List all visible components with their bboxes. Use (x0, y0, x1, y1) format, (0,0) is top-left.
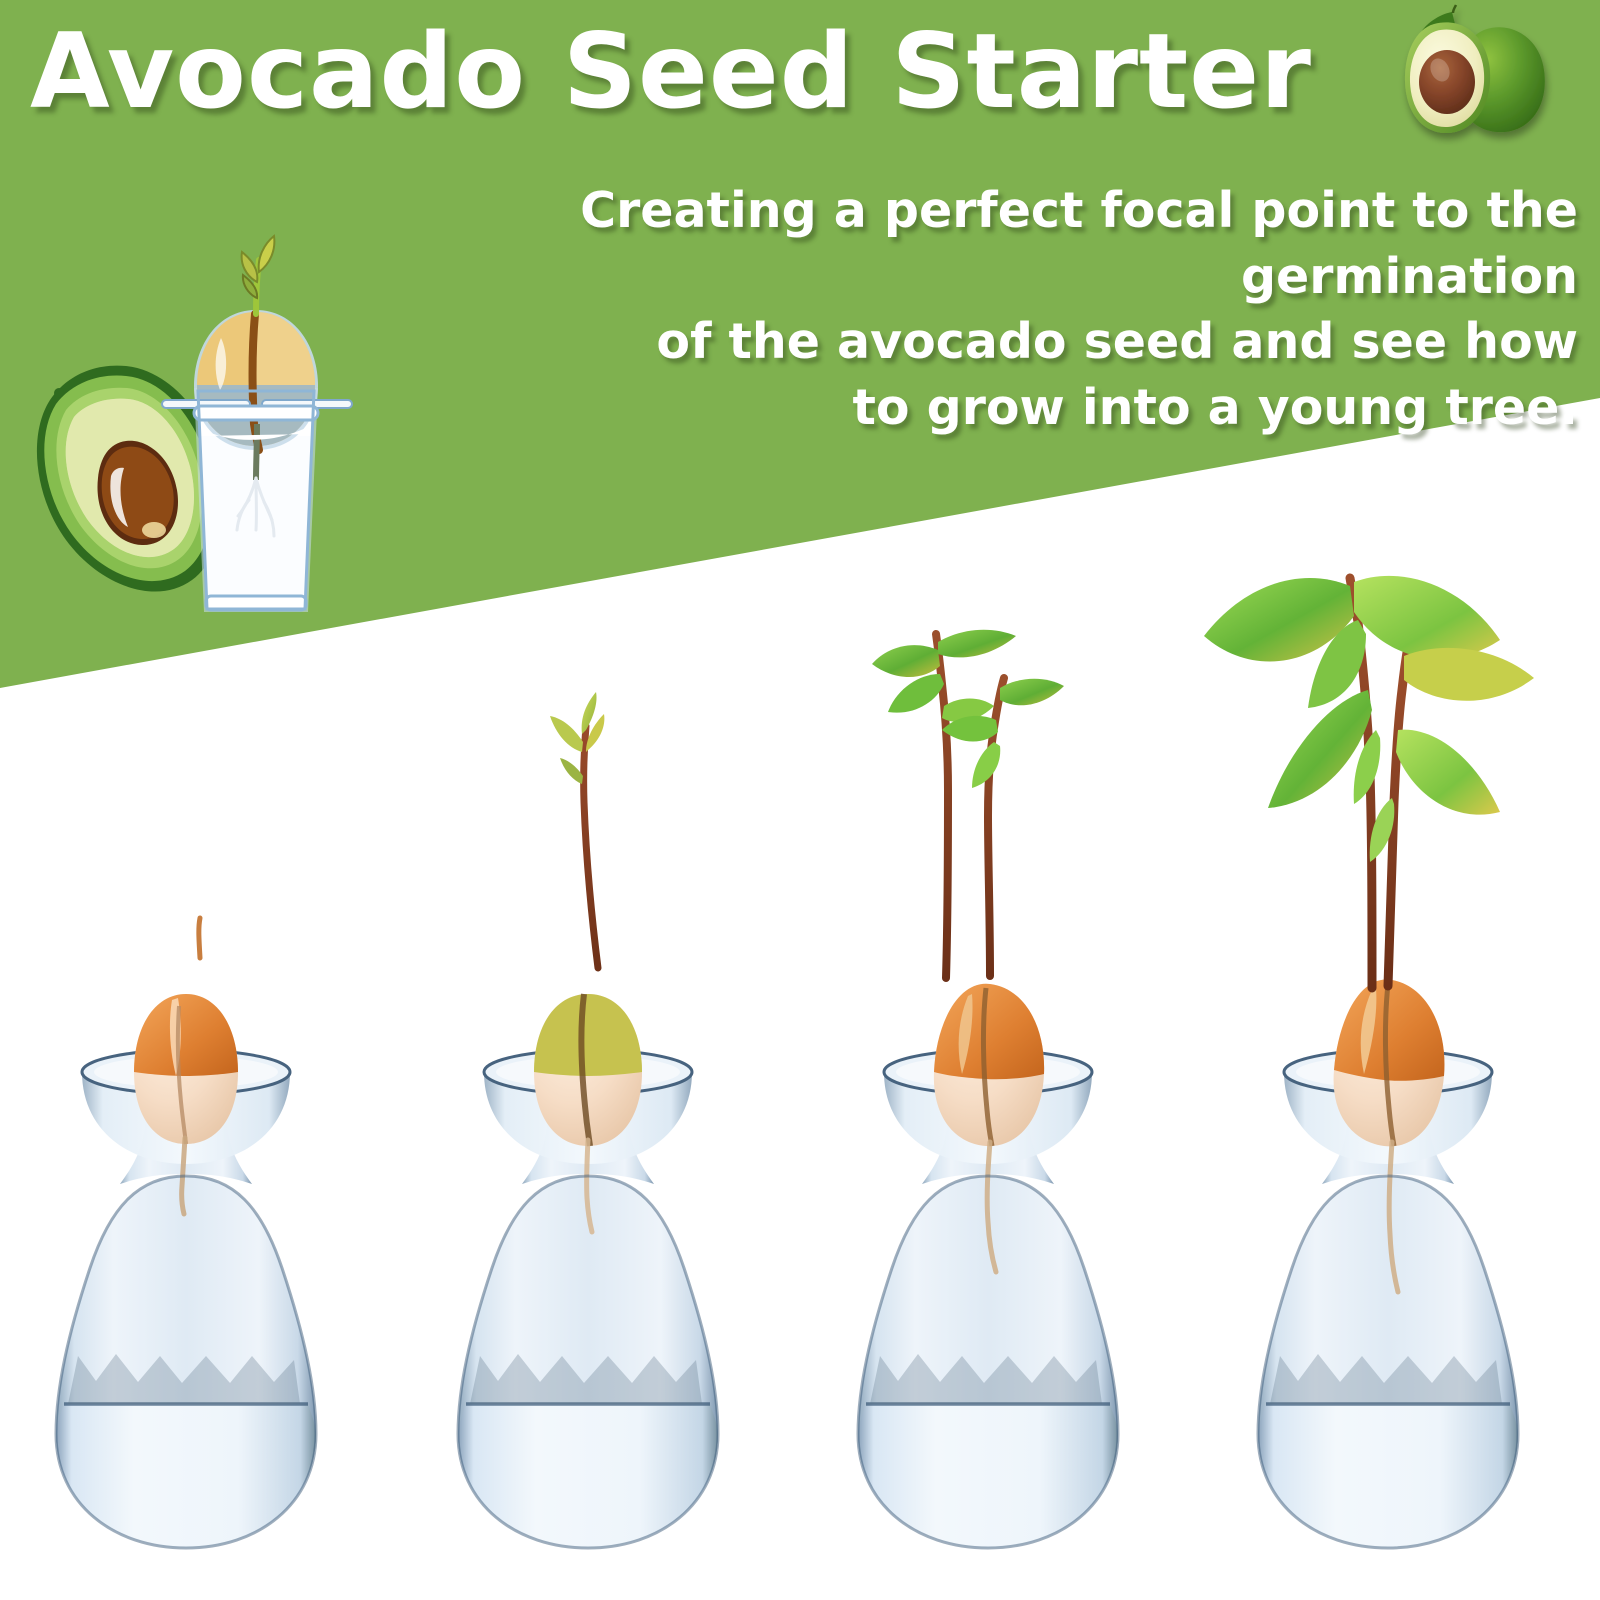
subtitle-line-2: of the avocado seed and see how (278, 309, 1578, 375)
avocado-pit (1419, 50, 1475, 114)
page-subtitle: Creating a perfect focal point to the ge… (278, 178, 1578, 441)
sprout-leaf-right (259, 236, 275, 272)
sprout-icon (242, 236, 275, 314)
avocado-seed-stage-1 (134, 994, 238, 1144)
leaf-lower-stage-2 (560, 758, 583, 784)
avocado-seed-stage-2 (534, 994, 642, 1146)
leaf-left-stage-2 (550, 716, 583, 752)
vase-water (56, 1404, 316, 1548)
sprout-tip-stage-1 (199, 918, 200, 958)
vase-water (1258, 1404, 1518, 1548)
page-title: Avocado Seed Starter (30, 18, 1360, 126)
leaf-6-stage-4 (1396, 730, 1500, 815)
germination-vase-3 (788, 876, 1188, 1576)
seed-skin (134, 994, 238, 1076)
avocado-photo-icon (1356, 2, 1586, 172)
avocado-stem-shape (1453, 5, 1456, 13)
seed-skin (934, 984, 1044, 1080)
leaf-a1-stage-3 (938, 630, 1016, 658)
vase-water (858, 1404, 1118, 1548)
leaf-a3-stage-3 (888, 674, 944, 713)
seed-skin (534, 994, 642, 1076)
subtitle-line-1: Creating a perfect focal point to the ge… (278, 178, 1578, 309)
leaf-4-stage-4 (1404, 648, 1534, 701)
leaf-b1-stage-3 (1000, 679, 1064, 706)
root-main-icon (256, 424, 257, 480)
leaf-a2-stage-3 (872, 645, 940, 677)
sprout-stage-2 (470, 690, 720, 970)
leaf-2-stage-4 (1354, 576, 1500, 659)
avocado-stem-dot (54, 388, 64, 398)
stem-stage-2 (584, 726, 598, 968)
avocado-seed-stage-4 (1334, 979, 1445, 1146)
germination-vase-2 (388, 876, 788, 1576)
pit-spot (142, 522, 166, 538)
avocado-seed-stage-3 (934, 984, 1044, 1146)
sprout-stage-3 (838, 610, 1138, 980)
sprout-stage-1 (88, 840, 308, 960)
subtitle-line-3: to grow into a young tree. (278, 375, 1578, 441)
sprout-stage-4 (1182, 560, 1600, 990)
poster-canvas: Avocado Seed Starter Creating a perfect … (0, 0, 1600, 1600)
germination-vase-1 (0, 876, 386, 1576)
vase-water (458, 1404, 718, 1548)
